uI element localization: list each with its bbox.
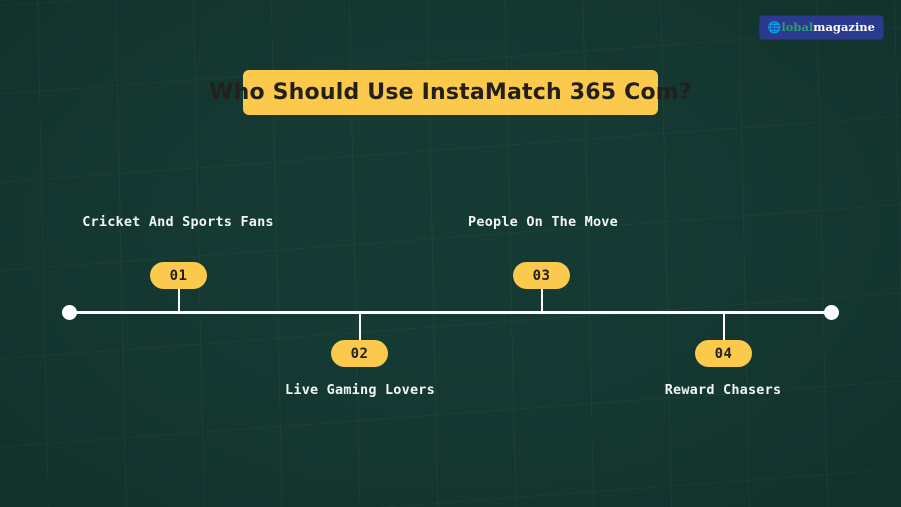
slide-canvas: 🌐lobalmagazine Who Should Use InstaMatch…	[0, 0, 901, 507]
timeline-axis	[70, 311, 832, 314]
timeline-badge-number-2: 02	[351, 346, 369, 362]
timeline-connector-4	[723, 313, 725, 341]
timeline-label-2: Live Gaming Lovers	[250, 381, 470, 399]
timeline-badge-3[interactable]: 03	[513, 262, 570, 289]
brand-name-secondary: magazine	[813, 20, 875, 34]
timeline-end-dot	[824, 305, 839, 320]
timeline-connector-3	[541, 289, 543, 313]
timeline-label-4: Reward Chasers	[613, 381, 833, 399]
timeline-start-dot	[62, 305, 77, 320]
timeline-badge-2[interactable]: 02	[331, 340, 388, 367]
slide-title-box: Who Should Use InstaMatch 365 Com?	[243, 70, 658, 115]
timeline-badge-number-3: 03	[533, 268, 551, 284]
timeline-badge-number-4: 04	[715, 346, 733, 362]
timeline-label-3: People On The Move	[433, 213, 653, 231]
timeline-badge-4[interactable]: 04	[695, 340, 752, 367]
timeline-connector-1	[178, 289, 180, 313]
brand-logo[interactable]: 🌐lobalmagazine	[760, 16, 883, 39]
brand-name-primary: lobal	[781, 20, 813, 34]
timeline-badge-1[interactable]: 01	[150, 262, 207, 289]
timeline-connector-2	[359, 313, 361, 341]
timeline-badge-number-1: 01	[170, 268, 188, 284]
globe-g-icon: 🌐	[768, 22, 782, 33]
page-title: Who Should Use InstaMatch 365 Com?	[209, 80, 692, 105]
timeline-label-1: Cricket And Sports Fans	[68, 213, 288, 231]
